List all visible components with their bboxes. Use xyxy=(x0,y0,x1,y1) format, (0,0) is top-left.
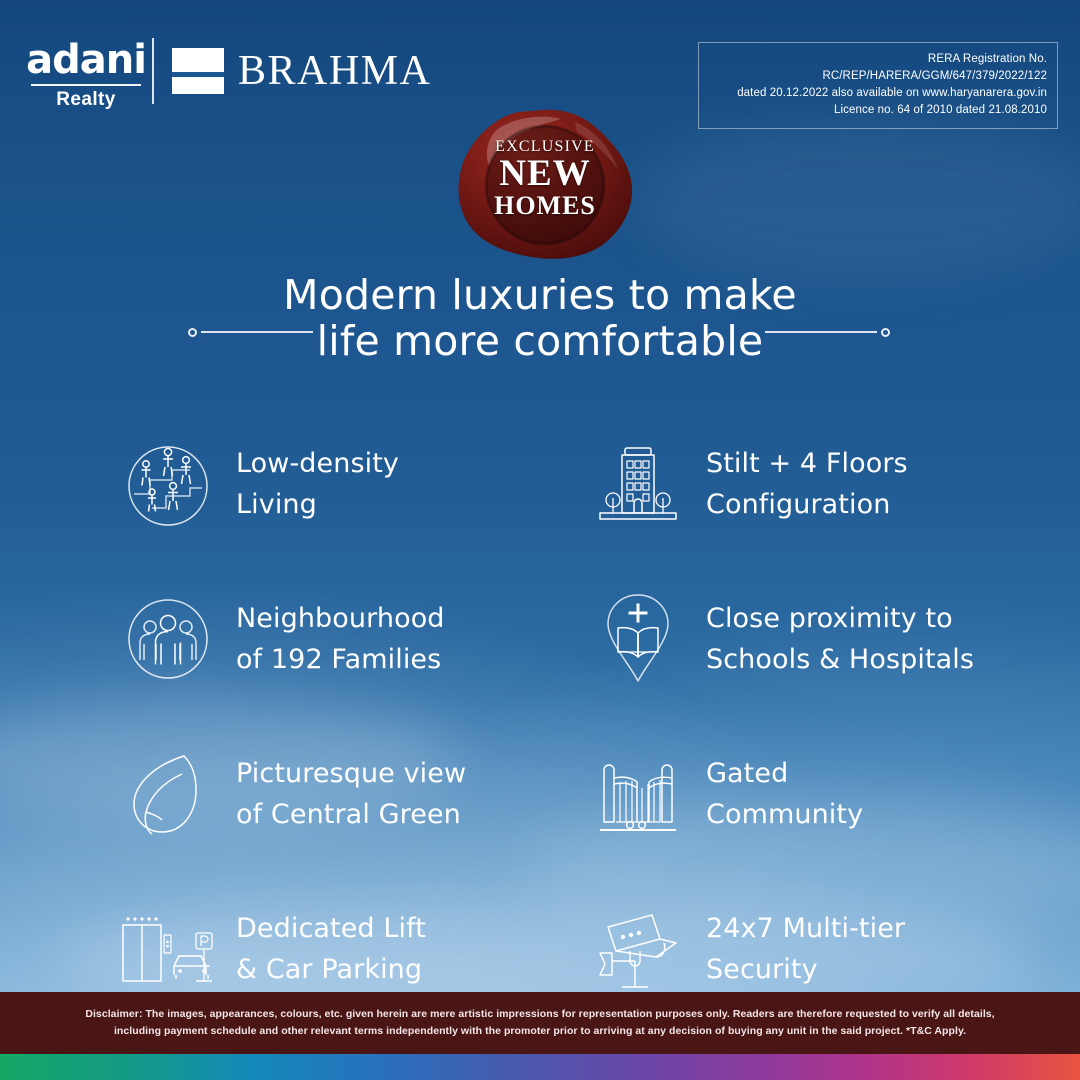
seal-text-block: EXCLUSIVE NEW HOMES xyxy=(455,138,635,220)
headline-line-2: life more comfortable xyxy=(0,318,1080,364)
seal-line-new: NEW xyxy=(455,156,635,192)
rera-line-3: Licence no. 64 of 2010 dated 21.08.2010 xyxy=(709,102,1047,119)
brahma-square-mark-icon xyxy=(172,48,224,94)
headline-decoration-right xyxy=(765,327,890,337)
decoration-line xyxy=(765,331,877,333)
feature-item: Neighbourhood of 192 Families xyxy=(118,561,548,716)
headline-block: Modern luxuries to make life more comfor… xyxy=(0,272,1080,364)
seal-line-homes: HOMES xyxy=(455,192,635,220)
brahma-wordmark: BRAHMA xyxy=(238,49,431,93)
adani-realty-label: Realty xyxy=(24,89,148,111)
feature-line-1: Gated xyxy=(706,753,863,794)
feature-label: Stilt + 4 Floors Configuration xyxy=(706,443,908,525)
feature-line-1: Stilt + 4 Floors xyxy=(706,443,908,484)
low-density-living-icon xyxy=(118,434,218,534)
feature-item: Close proximity to Schools & Hospitals xyxy=(588,561,1018,716)
leaf-icon xyxy=(118,744,218,844)
rainbow-gradient-strip xyxy=(0,1054,1080,1080)
feature-line-2: Living xyxy=(236,484,399,525)
building-with-trees-icon xyxy=(588,434,688,534)
feature-line-1: Low-density xyxy=(236,443,399,484)
cloud-wisp xyxy=(640,120,1080,280)
feature-label: Neighbourhood of 192 Families xyxy=(236,598,445,680)
exclusive-new-homes-seal: EXCLUSIVE NEW HOMES xyxy=(455,108,635,260)
feature-line-2: & Car Parking xyxy=(236,949,426,990)
cctv-camera-icon xyxy=(588,899,688,999)
feature-item: Picturesque view of Central Green xyxy=(118,716,548,871)
feature-grid: Low-density Living xyxy=(118,406,1018,1026)
feature-line-2: Schools & Hospitals xyxy=(706,639,974,680)
feature-label: Picturesque view of Central Green xyxy=(236,753,466,835)
feature-line-1: Dedicated Lift xyxy=(236,908,426,949)
adani-realty-logo: adani Realty xyxy=(24,40,148,111)
rera-line-2: dated 20.12.2022 also available on www.h… xyxy=(709,85,1047,102)
feature-line-1: Picturesque view xyxy=(236,753,466,794)
brand-divider xyxy=(152,38,154,104)
decoration-dot-icon xyxy=(881,328,890,337)
headline-decoration-left xyxy=(188,327,313,337)
disclaimer-text: Disclaimer: The images, appearances, col… xyxy=(75,1006,1005,1040)
feature-item: Low-density Living xyxy=(118,406,548,561)
map-pin-book-cross-icon xyxy=(588,589,688,689)
brahma-logo: BRAHMA xyxy=(172,48,431,94)
feature-line-2: Security xyxy=(706,949,905,990)
feature-line-2: of 192 Families xyxy=(236,639,445,680)
feature-label: 24x7 Multi-tier Security xyxy=(706,908,905,990)
feature-item: Stilt + 4 Floors Configuration xyxy=(588,406,1018,561)
feature-item: Gated Community xyxy=(588,716,1018,871)
gate-icon xyxy=(588,744,688,844)
feature-line-1: Close proximity to xyxy=(706,598,974,639)
three-people-circle-icon xyxy=(118,589,218,689)
feature-line-2: of Central Green xyxy=(236,794,466,835)
decoration-dot-icon xyxy=(188,328,197,337)
feature-label: Dedicated Lift & Car Parking xyxy=(236,908,426,990)
feature-label: Gated Community xyxy=(706,753,863,835)
disclaimer-band: Disclaimer: The images, appearances, col… xyxy=(0,992,1080,1054)
feature-label: Close proximity to Schools & Hospitals xyxy=(706,598,974,680)
adani-logo-rule xyxy=(31,84,141,86)
rera-registration-box: RERA Registration No. RC/REP/HARERA/GGM/… xyxy=(698,42,1058,129)
poster-canvas: adani Realty BRAHMA RERA Registration No… xyxy=(0,0,1080,1080)
feature-label: Low-density Living xyxy=(236,443,399,525)
decoration-line xyxy=(201,331,313,333)
elevator-car-parking-icon xyxy=(118,899,218,999)
feature-line-1: Neighbourhood xyxy=(236,598,445,639)
feature-line-1: 24x7 Multi-tier xyxy=(706,908,905,949)
feature-line-2: Configuration xyxy=(706,484,908,525)
feature-line-2: Community xyxy=(706,794,863,835)
adani-wordmark: adani xyxy=(24,40,148,80)
headline-line-1: Modern luxuries to make xyxy=(0,272,1080,318)
rera-line-1: RERA Registration No. RC/REP/HARERA/GGM/… xyxy=(709,51,1047,85)
